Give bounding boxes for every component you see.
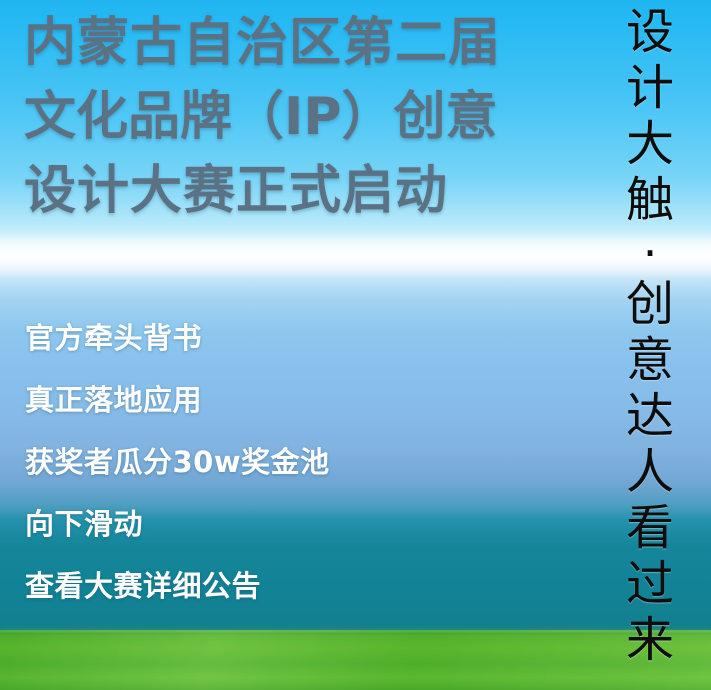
grassland-foreground — [0, 630, 711, 690]
bullet-item-5-view-announcement[interactable]: 查看大赛详细公告 — [25, 566, 455, 628]
bullet-item-1: 官方牵头背书 — [25, 318, 455, 380]
vertical-char-6: 创 — [619, 276, 681, 332]
bullet-item-4-scroll-hint[interactable]: 向下滑动 — [25, 504, 455, 566]
headline-title: 内蒙古自治区第二届 文化品牌（IP）创意 设计大赛正式启动 — [24, 6, 584, 228]
headline-line-1: 内蒙古自治区第二届 — [24, 6, 584, 80]
vertical-slogan: 设 计 大 触 · 创 意 达 人 看 过 来 — [619, 4, 681, 680]
feature-bullet-list: 官方牵头背书 真正落地应用 获奖者瓜分30w奖金池 向下滑动 查看大赛详细公告 — [25, 318, 455, 628]
vertical-char-3: 大 — [619, 116, 681, 172]
vertical-char-7: 意 — [619, 332, 681, 388]
vertical-char-4: 触 — [619, 172, 681, 228]
bullet-item-2: 真正落地应用 — [25, 380, 455, 442]
headline-line-3: 设计大赛正式启动 — [24, 154, 584, 228]
poster-canvas: 内蒙古自治区第二届 文化品牌（IP）创意 设计大赛正式启动 官方牵头背书 真正落… — [0, 0, 711, 690]
vertical-char-2: 计 — [619, 60, 681, 116]
vertical-char-8: 达 — [619, 388, 681, 444]
bullet-item-3: 获奖者瓜分30w奖金池 — [25, 442, 455, 504]
vertical-char-1: 设 — [619, 4, 681, 60]
vertical-char-9: 人 — [619, 444, 681, 500]
vertical-char-12: 来 — [619, 612, 681, 668]
vertical-separator-dot: · — [619, 228, 681, 276]
headline-line-2: 文化品牌（IP）创意 — [24, 80, 584, 154]
vertical-char-11: 过 — [619, 556, 681, 612]
vertical-char-10: 看 — [619, 500, 681, 556]
